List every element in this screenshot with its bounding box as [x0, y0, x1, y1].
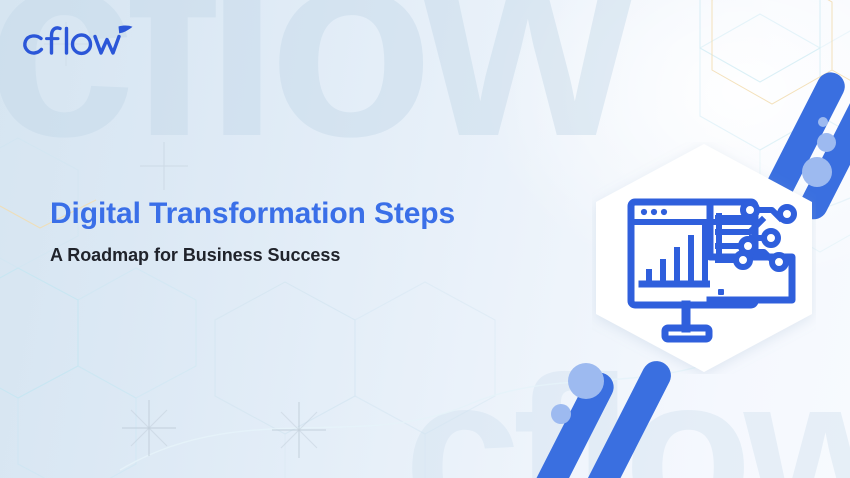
hex-mesh-center — [215, 282, 495, 478]
headline-block: Digital Transformation Steps A Roadmap f… — [50, 196, 570, 267]
window-dots-icon — [641, 209, 667, 215]
hexagon-badge-svg — [592, 142, 816, 374]
accent-circle-bottom-small — [551, 404, 571, 424]
accent-circle-top-right-medium — [817, 133, 836, 152]
hex-mesh-left — [0, 138, 196, 478]
indicator-dot — [718, 289, 724, 295]
accent-circle-top-right-small — [818, 117, 828, 127]
illustration-badge — [592, 142, 816, 374]
sparkle-icon — [140, 142, 188, 190]
page-title: Digital Transformation Steps — [50, 196, 570, 231]
cflow-logo-svg — [18, 20, 142, 66]
flag-swoosh-icon — [119, 26, 133, 34]
accent-bar-bottom-right-1 — [508, 368, 618, 478]
page-subtitle: A Roadmap for Business Success — [50, 245, 570, 267]
accent-bar-bottom-right-2 — [561, 356, 676, 478]
cflow-wordmark-icon — [25, 28, 119, 54]
sparkle-icon — [272, 402, 326, 458]
banner-canvas: cflow cflow — [0, 0, 850, 478]
cflow-logo[interactable] — [18, 20, 142, 66]
sparkle-icon — [122, 400, 176, 456]
